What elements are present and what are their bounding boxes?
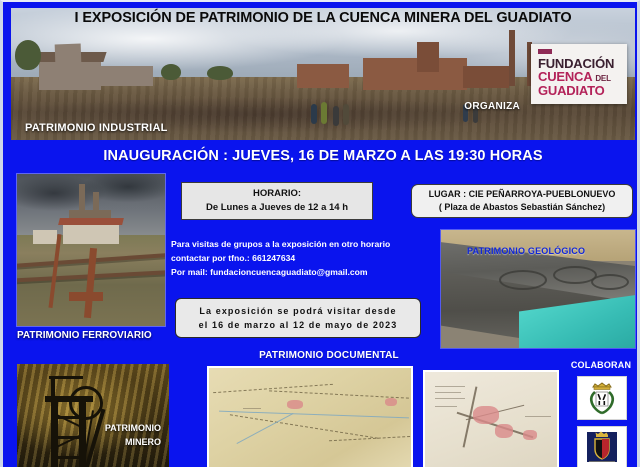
smokestack-tall [509,30,515,86]
plan-note-right [525,416,551,417]
tree-mid-left [161,64,181,80]
visitor-1 [311,104,317,124]
photo-geological-heritage: PATRIMONIO GEOLÓGICO [441,230,635,348]
contact-info: Para visitas de grupos a la exposición e… [171,238,431,280]
railway-station-roof [58,218,124,225]
ruin-wall-left [99,66,153,86]
plan-legend-line-1 [435,386,465,387]
collaborator-crest-1 [577,376,627,420]
headframe-top-beam [49,376,83,379]
railway-caption: PATRIMONIO FERROVIARIO [17,330,177,341]
documental-section-title: PATRIMONIO DOCUMENTAL [199,350,459,361]
hero-photo-industrial: PATRIMONIO INDUSTRIAL ORGANIZA FUNDACIÓN… [11,8,635,140]
ruin-building-left [39,60,101,90]
town-coat-of-arms-icon [582,380,622,416]
rock-fold-1 [499,270,547,290]
mining-caption-line-2: MINERO [105,436,161,450]
exhibition-poster: PATRIMONIO INDUSTRIAL ORGANIZA FUNDACIÓN… [0,0,640,467]
schedule-box: HORARIO: De Lunes a Jueves de 12 a 14 h [181,182,373,220]
logo-line-2-main: CUENCA [538,69,592,84]
logo-line-1: FUNDACIÓN [538,57,621,70]
headframe-mast [51,378,55,400]
tree-mid [207,66,233,80]
factory-tower [417,42,439,72]
photo-historic-map [207,366,413,467]
factory-wing [297,64,349,88]
venue-box: LUGAR : CIE PEÑARROYA-PUEBLONUEVO ( Plaz… [411,184,633,218]
plan-legend-line-2 [435,392,461,393]
venue-line-2: ( Plaza de Abastos Sebastián Sánchez) [439,201,605,214]
railway-hut [33,230,57,244]
page-title: I EXPOSICIÓN DE PATRIMONIO DE LA CUENCA … [3,10,640,26]
switch-lever-base [69,292,103,301]
headframe-cross-2 [51,436,86,439]
visitor-2 [321,102,327,124]
mining-plan-canvas [425,372,557,467]
venue-line-1: LUGAR : CIE PEÑARROYA-PUEBLONUEVO [429,188,616,201]
contact-line-2: contactar por tfno.: 661247634 [171,252,431,266]
visitor-4 [343,104,349,125]
tree-left [15,40,41,70]
railway-station-building [63,224,119,244]
factory-annex [463,66,509,88]
mining-caption: PATRIMONIO MINERO [105,422,161,449]
fundacion-logo: FUNDACIÓN CUENCA DEL GUADIATO [531,44,627,104]
mining-caption-line-1: PATRIMONIO [105,422,161,436]
historic-map-canvas [209,368,411,467]
factory-main-block [363,58,467,90]
logo-line-2: CUENCA DEL [538,70,621,83]
photo-railway-heritage [17,174,165,326]
photo-mining-plan [423,370,559,467]
map-settlement-2 [385,398,397,406]
plan-legend-line-3 [435,398,465,399]
schedule-heading: HORARIO: [253,187,301,201]
schedule-detail: De Lunes a Jueves de 12 a 14 h [206,201,348,215]
logo-accent-bar [538,49,552,54]
exhibition-dates-box: La exposición se podrá visitar desde el … [175,298,421,338]
contact-line-1: Para visitas de grupos a la exposición e… [171,238,431,252]
map-annotation-1 [243,408,261,409]
institution-coat-of-arms-icon [582,430,622,466]
ruin-gable-left [55,44,82,65]
contact-line-3: Por mail: fundacioncuencaguadiato@gmail.… [171,266,431,280]
photo-mining-heritage: PATRIMONIO MINERO [17,364,169,467]
visitor-3 [333,106,339,126]
map-settlement-1 [287,400,303,409]
collaborators-title: COLABORAN [563,360,639,370]
collaborator-crest-2 [577,426,627,467]
headframe-cross-3 [51,456,86,459]
rock-fold-3 [591,274,629,290]
logo-line-2-small: DEL [595,74,610,83]
organiza-label: ORGANIZA [464,101,520,112]
dates-line-2: el 16 de marzo al 12 de mayo de 2023 [199,318,398,332]
plan-zone-1 [473,406,499,424]
geology-caption: PATRIMONIO GEOLÓGICO [467,246,585,256]
logo-line-3: GUADIATO [538,84,621,97]
plan-zone-2 [495,424,513,438]
hero-caption: PATRIMONIO INDUSTRIAL [25,122,168,134]
inauguration-banner: INAUGURACIÓN : JUEVES, 16 DE MARZO A LAS… [3,148,640,164]
plan-legend-line-4 [435,406,457,407]
dates-line-1: La exposición se podrá visitar desde [199,304,396,318]
pulley-wheel-icon [69,386,103,420]
plan-zone-3 [523,430,537,440]
